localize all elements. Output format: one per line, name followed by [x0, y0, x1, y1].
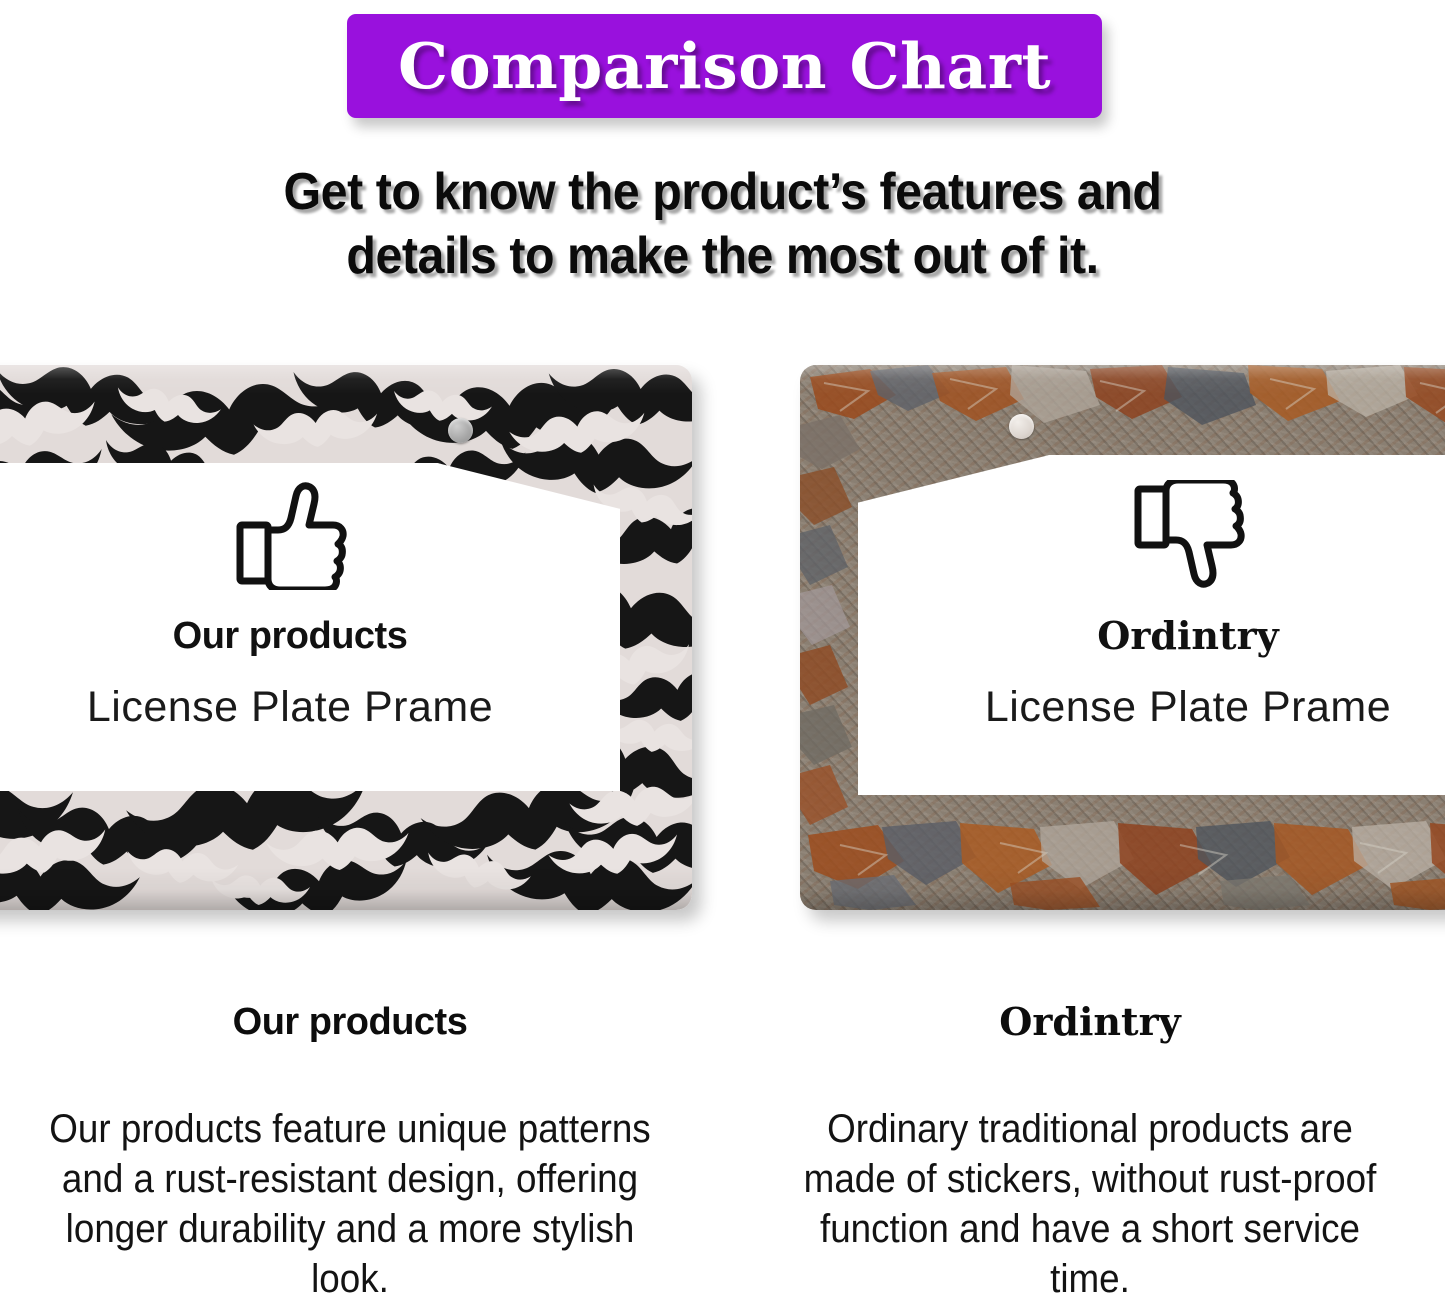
mounting-hole-right — [1009, 414, 1034, 439]
our-product-heading: Our products — [20, 1000, 680, 1044]
ordinary-heading: Ordintry — [760, 1000, 1420, 1044]
our-product-plate-title: Our products — [0, 616, 580, 656]
thumbs-up-icon — [230, 480, 350, 590]
our-product-description: Our products feature unique patterns and… — [46, 1104, 653, 1304]
page-title: Comparison Chart — [398, 29, 1051, 103]
mounting-hole-left — [448, 418, 473, 443]
subtitle: Get to know the product’s features and d… — [51, 160, 1395, 288]
comparison-chart-banner: Comparison Chart — [347, 14, 1102, 118]
subtitle-line-1: Get to know the product’s features and — [51, 160, 1395, 224]
our-product-description-column: Our products Our products feature unique… — [20, 1000, 680, 1304]
ordinary-plate-subtitle: License Plate Prame — [868, 684, 1445, 730]
our-product-plate-content: Our products License Plate Prame — [0, 480, 580, 730]
ordinary-plate-title: Ordintry — [868, 616, 1445, 656]
ordinary-description: Ordinary traditional products are made o… — [786, 1104, 1393, 1304]
ordinary-description-column: Ordintry Ordinary traditional products a… — [760, 1000, 1420, 1304]
subtitle-line-2: details to make the most out of it. — [51, 224, 1395, 288]
thumbs-down-icon — [1128, 480, 1248, 590]
our-product-plate-subtitle: License Plate Prame — [0, 684, 580, 730]
ordinary-plate-content: Ordintry License Plate Prame — [868, 480, 1445, 730]
